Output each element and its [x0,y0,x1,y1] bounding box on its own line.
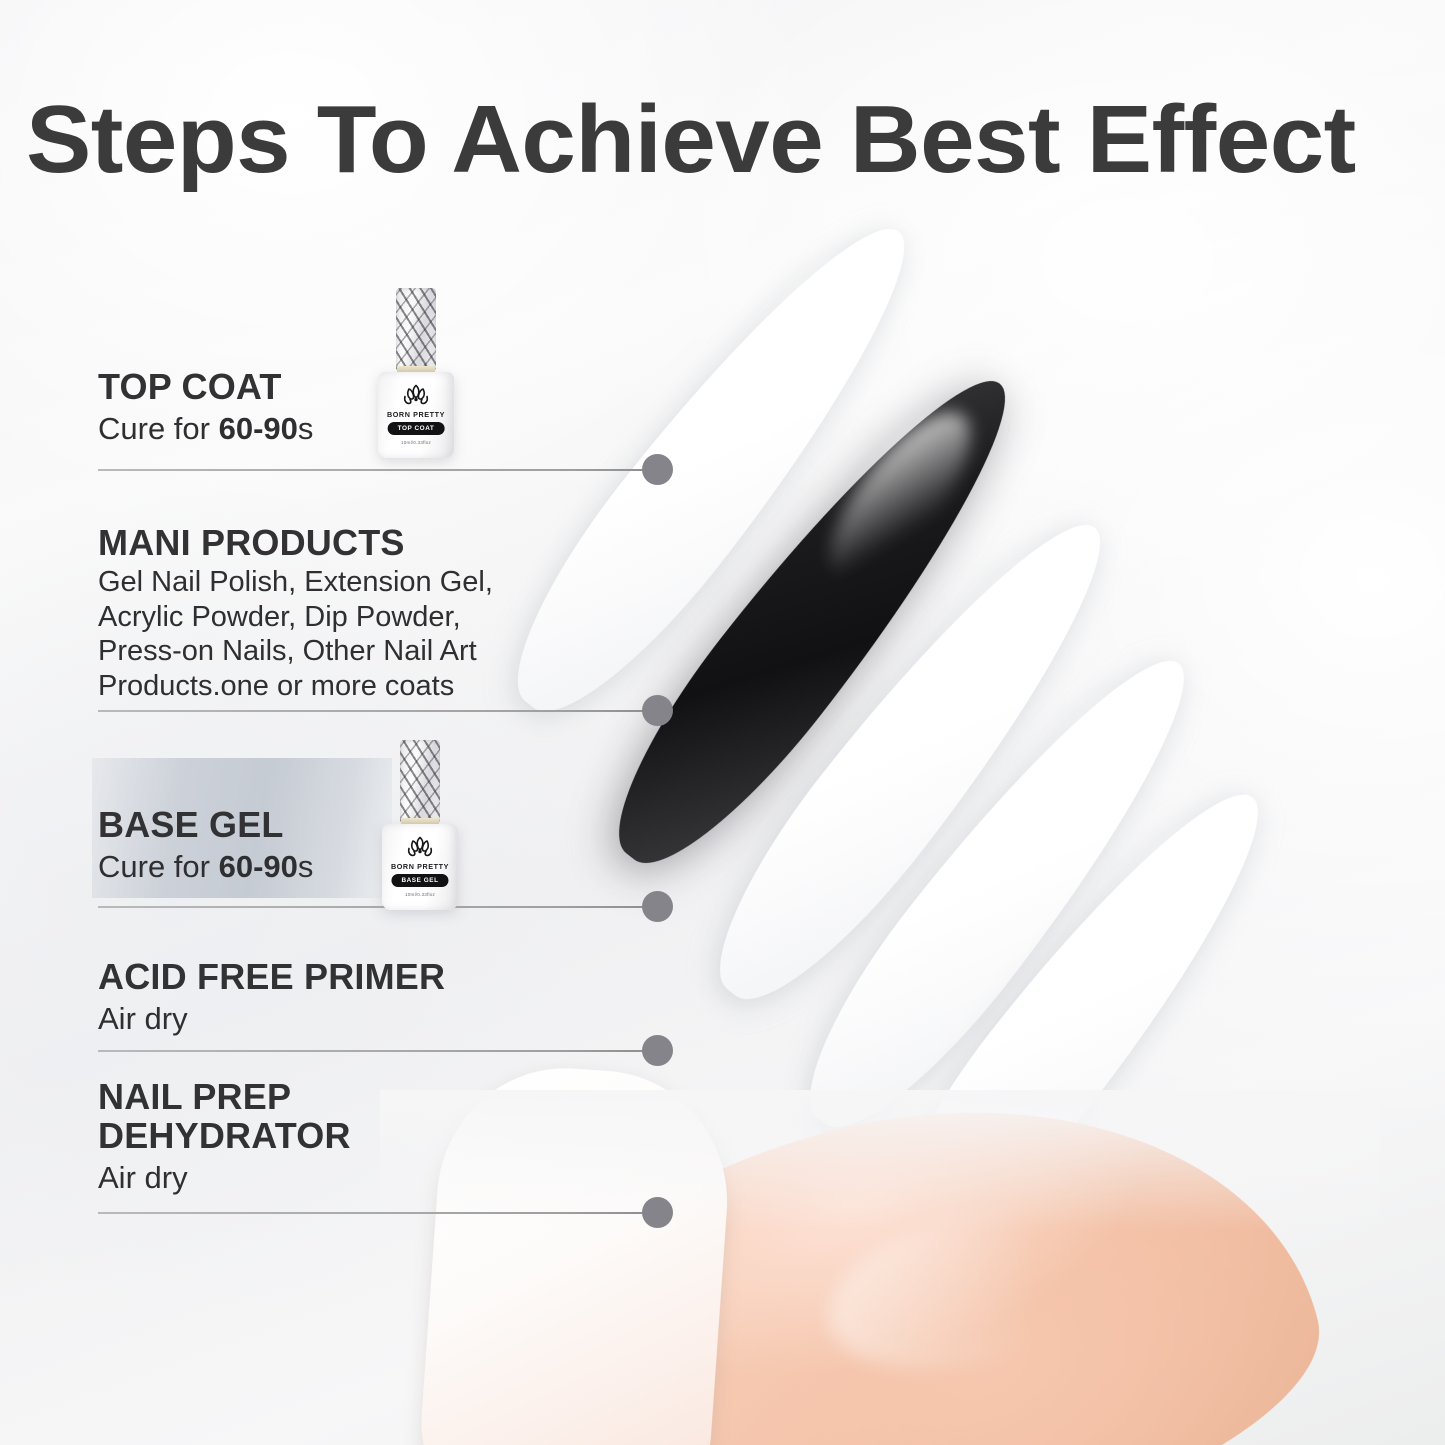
infographic-canvas: Steps To Achieve Best Effect TOP COAT Cu… [0,0,1445,1445]
cure-suffix: s [298,849,314,884]
step-description-mani-products: Gel Nail Polish, Extension Gel, Acrylic … [98,565,658,704]
leader-dot-nail-prep-dehydrator [642,1197,673,1228]
bottle-brand-text: BORN PRETTY [378,410,454,419]
step-subtext-nail-prep-dehydrator: Air dry [98,1160,658,1196]
steps-list: TOP COAT Cure for 60-90s MANI PRODUCTS G… [0,0,700,1445]
step-heading-nail-prep-line1: NAIL PREP [98,1078,658,1117]
nail-gloss-highlight [705,239,893,449]
desc-line-4: Products.one or more coats [98,669,658,704]
bottle-body: BORN PRETTY BASE GEL 10ml/0.33floz [382,824,458,910]
flower-logo-icon [401,381,431,407]
step-subtext-acid-free-primer: Air dry [98,1001,658,1037]
leader-line-acid-free-primer [98,1050,646,1052]
flower-logo-icon [405,833,435,859]
leader-dot-mani-products [642,695,673,726]
skin-highlight [811,1179,1138,1397]
step-mani-products: MANI PRODUCTS Gel Nail Polish, Extension… [98,524,658,704]
step-nail-prep-dehydrator: NAIL PREP DEHYDRATOR Air dry [98,1078,658,1196]
leader-line-top-coat [98,469,646,471]
bottle-volume-text: 10ml/0.33floz [382,892,458,897]
bottle-product-label: BASE GEL [391,874,448,887]
step-heading-nail-prep-line2: DEHYDRATOR [98,1117,658,1156]
base-gel-bottle: BORN PRETTY BASE GEL 10ml/0.33floz [374,740,466,910]
bottle-volume-text: 10ml/0.33floz [378,440,454,445]
bottle-cap-wrapped [400,740,440,822]
bottle-cap-wrapped [396,288,436,370]
desc-line-2: Acrylic Powder, Dip Powder, [98,600,658,635]
top-coat-bottle: BORN PRETTY TOP COAT 10ml/0.33floz [370,288,462,458]
desc-line-3: Press-on Nails, Other Nail Art [98,634,658,669]
cure-prefix: Cure for [98,411,219,446]
leader-line-base-gel [98,906,646,908]
cure-prefix: Cure for [98,849,219,884]
bottle-product-label: TOP COAT [388,422,445,435]
step-acid-free-primer: ACID FREE PRIMER Air dry [98,958,658,1037]
leader-dot-base-gel [642,891,673,922]
nail-gloss-highlight [904,535,1089,741]
desc-line-1: Gel Nail Polish, Extension Gel, [98,565,658,600]
bottle-body: BORN PRETTY TOP COAT 10ml/0.33floz [378,372,454,458]
leader-dot-top-coat [642,454,673,485]
cure-duration: 60-90 [219,411,298,446]
step-heading-acid-free-primer: ACID FREE PRIMER [98,958,658,997]
nail-gloss-highlight [807,392,994,601]
leader-dot-acid-free-primer [642,1035,673,1066]
step-heading-mani-products: MANI PRODUCTS [98,524,658,563]
nail-tips-group [620,150,1445,1280]
cure-duration: 60-90 [219,849,298,884]
leader-line-mani-products [98,710,646,712]
cure-suffix: s [298,411,314,446]
leader-line-nail-prep-dehydrator [98,1212,646,1214]
bottle-brand-text: BORN PRETTY [382,862,458,871]
